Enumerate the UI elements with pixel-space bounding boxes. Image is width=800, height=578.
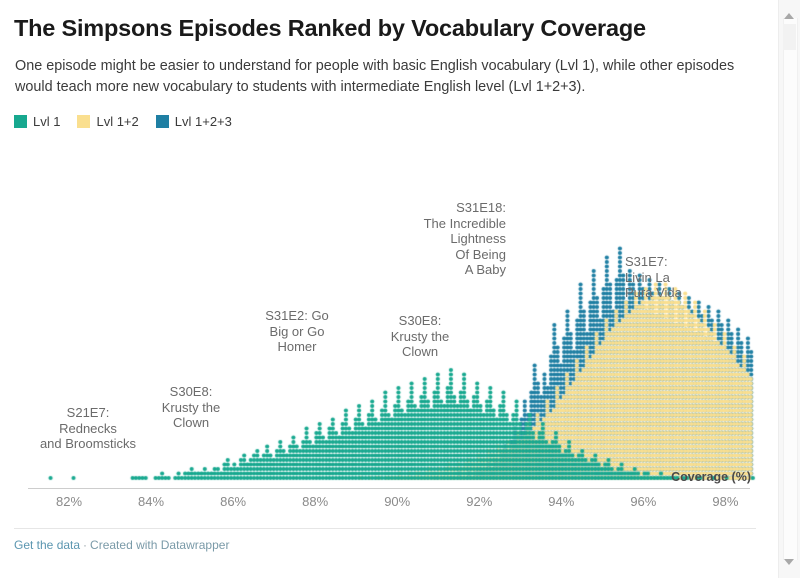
chart-subtitle: One episode might be easier to understan… xyxy=(15,56,752,97)
chart-legend: Lvl 1Lvl 1+2Lvl 1+2+3 xyxy=(14,112,249,130)
legend-swatch-icon xyxy=(14,115,27,128)
x-tick-label: 88% xyxy=(285,494,345,509)
scrollbar-track[interactable] xyxy=(783,18,798,560)
legend-item-lvl-1-2[interactable]: Lvl 1+2 xyxy=(77,114,138,129)
x-tick-label: 92% xyxy=(449,494,509,509)
legend-label: Lvl 1+2 xyxy=(96,114,138,129)
chart-page: The Simpsons Episodes Ranked by Vocabula… xyxy=(0,0,779,578)
footer-divider xyxy=(14,528,756,529)
scroll-up-arrow-icon[interactable] xyxy=(784,13,794,19)
scroll-down-arrow-icon[interactable] xyxy=(784,559,794,565)
legend-swatch-icon xyxy=(77,115,90,128)
scrollbar-thumb[interactable] xyxy=(783,24,796,50)
x-tick-label: 96% xyxy=(613,494,673,509)
x-axis-title: Coverage (%) xyxy=(671,470,751,484)
x-tick-label: 82% xyxy=(39,494,99,509)
x-tick-label: 84% xyxy=(121,494,181,509)
x-tick-label: 90% xyxy=(367,494,427,509)
get-the-data-link[interactable]: Get the data xyxy=(14,538,80,552)
legend-label: Lvl 1+2+3 xyxy=(175,114,232,129)
legend-item-lvl-1-2-3[interactable]: Lvl 1+2+3 xyxy=(156,114,232,129)
legend-label: Lvl 1 xyxy=(33,114,60,129)
legend-item-lvl-1[interactable]: Lvl 1 xyxy=(14,114,60,129)
annotation-s30e8b: S30E8: Krusty the Clown xyxy=(340,313,500,360)
footer-separator: · xyxy=(83,538,87,552)
x-axis-line xyxy=(28,488,750,489)
annotation-s31e18: S31E18: The Incredible Lightness Of Bein… xyxy=(376,200,506,278)
datawrapper-credit: Created with Datawrapper xyxy=(90,538,229,552)
legend-swatch-icon xyxy=(156,115,169,128)
x-tick-label: 98% xyxy=(695,494,755,509)
vertical-scrollbar[interactable] xyxy=(778,0,800,578)
chart-footer: Get the data·Created with Datawrapper xyxy=(14,538,229,552)
page-title: The Simpsons Episodes Ranked by Vocabula… xyxy=(14,14,754,42)
x-tick-label: 86% xyxy=(203,494,263,509)
annotation-s31e7: S31E7: Livin La Pura Vida xyxy=(625,254,682,301)
annotation-s30e8a: S30E8: Krusty the Clown xyxy=(111,384,271,431)
x-tick-label: 94% xyxy=(531,494,591,509)
